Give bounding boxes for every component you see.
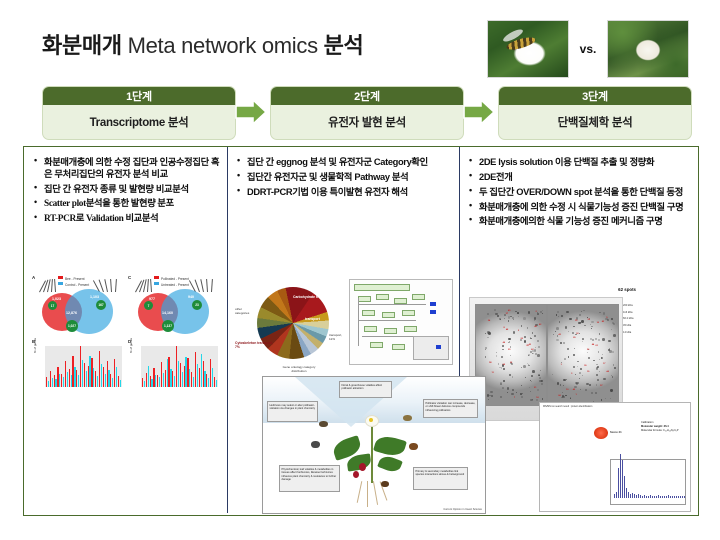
gel-spot-annotation: 11 [492,372,494,374]
gel-spot [532,332,533,333]
gel-spot [576,383,578,385]
gel-spot [563,385,564,386]
gel-spot [500,396,502,398]
eco-insect-bee-right [403,415,412,421]
gel-spot [560,384,561,385]
gel-spot [565,326,567,328]
venn-a-small-left: 17 [48,301,57,310]
spectrum-peak [632,493,633,498]
gel-spot-annotation: 7 [514,397,515,399]
spectrum-peak [674,496,675,498]
column-transcriptome: 화분매개충에 의한 수정 집단과 인공수정집단 혹은 무처리집단의 유전자 분석… [24,147,228,513]
spectrum-peak [650,495,651,498]
gel-spot [533,353,534,354]
spectrum-peak [614,494,615,498]
stage-1-step: 1단계 [43,87,235,105]
gel-spot [591,321,594,324]
gel-spot [557,382,559,384]
gel-spot [501,367,503,369]
gel-spot [573,326,575,328]
bar-panel-d: D % of genes [128,339,220,395]
gel-spot [512,389,514,391]
gel-spot [598,351,599,352]
gel-spot [509,374,511,376]
spectrum-peak [620,454,621,498]
page-title-kr-prefix: 화분매개 [42,33,122,58]
gel-spot [530,338,532,340]
venn-a-small-right: 167 [96,300,106,310]
flow-arrow-2-icon [462,97,496,127]
gel-spot-annotation: 45 [508,310,510,312]
bar-d-ylabel: % of genes [129,338,133,353]
gel-spot [535,347,536,348]
pie-callout-left: other categories [235,307,257,315]
gel-spot [494,309,496,311]
spectrum-peak [630,494,631,498]
gel-spot [537,389,539,391]
eco-caption: Current Opinion in Insect Science [443,508,482,511]
gel-spot [613,334,616,337]
plant-leaf [373,433,407,459]
gel-spot [510,316,511,317]
page-title-kr-suffix: 분석 [324,33,364,58]
gel-spot [558,316,559,317]
gel-spot [612,376,614,378]
gel-spot [599,333,600,334]
gel-spot [502,387,504,389]
gel-spot [581,311,582,312]
gel-spot [608,340,610,342]
spectrum-peak [646,496,647,498]
gel-spot-annotation: 24 [558,395,560,397]
gel-spot [502,349,503,350]
gel-spot [515,311,517,313]
spectrum-peak [626,488,627,498]
list-item: 2DE전개 [468,171,690,183]
gel-spot [562,392,563,393]
gel-spot [513,331,516,334]
stage-3-label: 단백질체학 분석 [499,105,691,139]
gel-spot [518,316,519,317]
gel-spot [536,399,538,401]
spectrum-peak [652,496,653,498]
gel-spot-annotation: 42 [573,389,575,391]
venn-a-right-only: 1,103 [90,295,99,299]
gel-spot-annotation: 48 [506,329,508,331]
venn-a-small-bottom: 1,027 [66,320,78,332]
spectrum-peak [684,496,685,498]
gel-image-right: 1016424230194493215329441241961433617573 [547,304,619,406]
gel-spot-annotation: 29 [573,337,575,339]
gel-spot [517,312,519,314]
gel-spot [500,382,501,383]
gel-spot-annotation: 3 [571,373,572,375]
gel-spot [565,395,567,397]
gel-spot [599,312,601,314]
gel-spot [573,366,575,368]
gel-spot-annotation: 36 [587,349,589,351]
gel-spot [611,329,612,330]
gel-spot [520,393,522,395]
gel-spot-annotation: 44 [592,344,594,346]
gel-spot [556,327,559,330]
stage-flow: 1단계 Transcriptome 분석 2단계 유전자 발현 분석 3단계 단… [0,86,720,144]
ms-spot-score: Score 41 [610,430,622,434]
spectrum-peak [662,496,663,498]
gel-spot [567,348,569,350]
pie-slice-label-2: transport [305,317,320,321]
gel-spot [579,314,581,316]
gel-spot [591,328,592,329]
plant-root [367,481,368,507]
eco-insect-herbivore [409,443,418,450]
header-photo-comparison: vs. [487,20,695,78]
gel-spot [528,365,530,367]
figure-venn-and-bars: A Bee - Present Control - Present [30,275,222,395]
gel-spot [508,320,509,321]
gel-spot-annotation: 57 [600,385,602,387]
gel-spot-annotation: 25 [508,349,510,351]
spectrum-peak [680,496,681,498]
bar-d-plot [141,346,218,387]
gel-spot [556,339,558,341]
gel-spot [578,322,581,325]
gel-spot [577,361,579,363]
pie-callout-bottom: Gene ontology category distribution [279,365,319,373]
plant-flower-center [369,418,373,422]
list-item: 화분매개충에 의한 수정 집단과 인공수정집단 혹은 무처리집단의 유전자 분석… [33,156,221,181]
spectrum-peak [634,494,635,498]
gel-spot [552,374,553,375]
gel-spot [488,332,490,334]
gel-spot [487,337,488,338]
spectrum-peak [668,495,669,498]
list-item: 화분매개충에 의한 수정 시 식물기능성 증진 단백질 구명 [468,201,690,213]
gel-spot [602,354,603,355]
gel-spot [500,319,501,320]
gel-spot-annotation: 61 [596,345,598,347]
eco-text-box-3: Pollinator visitation can increase, decr… [423,399,478,418]
panel-label-a: A [32,275,35,280]
venn-c-small-bottom: 1,137 [162,320,174,332]
gel-spot [580,389,581,390]
stage-3-step: 3단계 [499,87,691,105]
pie-callout-cytoskeleton: Cytoskeleton transport, 7% [235,341,275,350]
gel-spot-annotation: 30 [584,365,586,367]
gel-spot [597,379,599,381]
gel-spot [599,371,600,372]
gel-spot [537,340,539,342]
gel-spot [614,367,616,369]
gel-spot-annotation: 8 [504,327,505,329]
gel-spot [591,392,593,394]
spectrum-peak [682,496,683,498]
venn-c-right-only: 940 [188,295,194,299]
spectrum-peak [670,496,671,498]
gel-spot [595,338,598,341]
gel-spot [583,310,585,312]
gel-spot [596,384,598,386]
stage-box-2[interactable]: 2단계 유전자 발현 분석 [270,86,464,140]
spectrum-peak [642,496,643,498]
gel-spot-annotation: 62 [531,349,533,351]
gel-spot-annotation: 2 [518,330,519,332]
eco-insect-soil [381,481,389,487]
gel-spot [582,338,584,340]
spectrum-peak [622,460,623,498]
spectrum-peak [644,495,645,498]
venn-a-center: 12,876 [66,311,77,315]
spectrum-peak [676,496,677,498]
vs-label: vs. [575,42,601,56]
gel-spot [608,349,610,351]
gel-spot [582,341,583,342]
bar-cyan [216,380,217,387]
gel-spot [497,315,499,317]
flow-arrow-1-icon [234,97,268,127]
pathway-highlight-1 [430,302,436,306]
spectrum-peak [636,495,637,498]
gel-spot [553,334,555,336]
gel-spot-annotation: 19 [587,371,589,373]
gel-spot-annotation: 16 [597,322,599,324]
gel-spot-annotation: 17 [603,363,605,365]
eco-text-box-5: Primary & secondary metabolites link spe… [413,467,468,490]
figure-pathway-map [349,279,453,365]
gel-spot [579,333,580,334]
gel-spot-annotation: 1 [561,364,562,366]
gel-spot-annotation: 42 [558,334,560,336]
gel-spot-annotation: 9 [606,317,607,319]
gel-spot-annotation: 1 [575,394,576,396]
spectrum-peak [624,476,625,498]
gel-spot [569,318,571,320]
list-item: 2DE lysis solution 이용 단백질 추출 및 정량화 [468,156,690,168]
gel-spot [587,352,588,353]
gel-spot-annotation: 44 [606,371,608,373]
gel-spot-annotation: 19 [575,320,577,322]
venn-panel-c: C Pollinated - Present Untreated - Prese… [128,275,220,337]
gel-spot [610,389,612,391]
gel-spot [531,375,533,377]
gel-spot [559,321,560,322]
gel-spot [508,338,510,340]
gel-spot [524,336,526,338]
gel-spot-annotation: 58 [489,362,491,364]
gel-spot-annotation: 62 [539,324,541,326]
page-title-en: Meta network omics [122,33,324,58]
gel-spot [500,383,502,385]
plant-berry [359,463,366,471]
gel-spot-annotation: 24 [488,320,490,322]
gel-spot [595,392,597,394]
bee-on-flower-photo [487,20,569,78]
list-item: Scatter plot분석을 통한 발현량 분포 [33,198,221,210]
spectrum-peak [656,496,657,498]
gel-spot-annotation: 46 [503,342,505,344]
content-frame: 화분매개충에 의한 수정 집단과 인공수정집단 혹은 무처리집단의 유전자 분석… [23,146,699,516]
gel-spot [523,317,526,320]
ms-spectrum-plot [610,459,686,505]
gel-spot [592,339,594,341]
venn-c-legend: Pollinated - Present Untreated - Present [154,276,189,288]
list-item: 집단 간 eggnog 분석 및 유전자군 Category확인 [236,156,453,168]
gel-spot [534,335,536,337]
gel-spot [532,399,533,400]
gel-spot [581,320,584,323]
plant-leaf [377,453,403,474]
gel-spot [539,375,540,376]
gel-spot-annotation: 10 [566,389,568,391]
gel-spot [601,357,603,359]
stage-box-1[interactable]: 1단계 Transcriptome 분석 [42,86,236,140]
gel-spot [538,346,540,348]
spectrum-peak [664,496,665,498]
gel-spot [596,367,599,370]
venn-panel-a: A Bee - Present Control - Present [32,275,124,337]
gel-spot [504,318,505,319]
ms-spot-marker [594,427,608,439]
gel-spot-annotation: 40 [534,326,536,328]
spectrum-peak [638,494,639,498]
gel-spot [496,352,497,353]
gel-spot [560,342,562,344]
gel-spot-annotation: 20 [521,338,523,340]
pie-callout-right: transport, 11% [329,333,347,341]
gel-spot [507,392,508,393]
gel-spot [507,387,509,389]
gel-spot [603,312,605,314]
gel-spot [496,355,498,357]
figure-go-category-pie: Carbohydrate transport transport Cytoske… [235,277,347,375]
stage-2-label: 유전자 발현 분석 [271,105,463,139]
gel-spot [495,313,497,315]
bullet-list-proteomics: 2DE lysis solution 이용 단백질 추출 및 정량화 2DE전개… [459,147,696,228]
gel-spot [603,378,605,380]
gel-spot [589,384,592,387]
stage-2-step: 2단계 [271,87,463,105]
gel-spot [580,368,582,370]
gel-spot [605,398,606,399]
plant-root [373,481,378,505]
spectrum-peak [618,468,619,498]
gel-title: 62 spots [618,287,636,292]
gel-spot-annotation: 2 [536,311,537,313]
gel-spot [523,365,526,368]
gel-spot [579,372,581,374]
gel-spot [513,319,514,320]
gel-spot [540,370,541,371]
gel-spot [525,377,526,378]
figure-ms-identification: MS/MS ion search result : protein identi… [539,402,691,512]
gel-spot [612,351,614,353]
spectrum-peak [616,492,617,498]
gel-spot [503,380,505,382]
gel-spot [532,370,535,373]
gel-spot [599,359,600,360]
venn-a-legend: Bee - Present Control - Present [58,276,89,288]
gel-spot [531,381,532,382]
gel-spot [491,395,494,398]
pathway-legend-panel [413,336,449,360]
spectrum-peak [654,496,655,498]
gel-spot [575,374,576,375]
column-proteomics: 2DE lysis solution 이용 단백질 추출 및 정량화 2DE전개… [459,147,696,513]
gel-spot [534,349,536,351]
list-item: 집단간 유전자군 및 생물학적 Pathway 분석 [236,171,453,183]
gel-spot [574,348,575,349]
gel-spot [534,320,535,321]
gel-spot [498,363,500,365]
spectrum-peak [648,496,649,498]
spectrum-peak [628,492,629,498]
gel-spot-annotation: 43 [602,321,604,323]
gel-spot [563,342,565,344]
gel-spot [563,379,566,382]
gel-y-axis-labels: 200 kDa 116 kDa 66.2 kDa 45 kDa 14 kDa [623,303,633,337]
gel-spot [611,318,613,320]
bar-b-plot [45,346,122,387]
gel-spot [585,389,587,391]
gel-spot [566,311,568,313]
gel-spot [602,338,605,341]
gel-spot-annotation: 25 [526,345,528,347]
gel-spot [510,355,511,356]
spectrum-peak [678,496,679,498]
gel-spot [485,333,487,335]
bar-panel-b: B % of genes [32,339,124,395]
pathway-title-bar [354,284,410,291]
spectrum-peak [658,495,659,498]
list-item: 두 집단간 OVER/DOWN spot 분석을 통한 단백질 동정 [468,186,690,198]
gel-spot [596,374,598,376]
gel-spot [516,392,518,394]
gel-spot [587,317,588,318]
eco-text-box-4: Phytochemical, leaf volatiles & metaboli… [279,465,340,492]
gel-spot [555,331,556,332]
venn-c-small-right: 23 [192,300,202,310]
gel-spot [593,360,595,362]
gel-spot [502,345,504,347]
gel-spot [577,366,578,367]
gel-spot [529,387,530,388]
pathway-highlight-2 [430,310,436,314]
gel-spot [539,377,541,379]
page-title: 화분매개 Meta network omics 분석 [42,28,364,60]
spectrum-peak [640,495,641,498]
plant-stem [371,421,373,483]
spectrum-peak [672,496,673,498]
gel-spot [537,354,540,357]
gel-spot [487,313,489,315]
stage-box-3[interactable]: 3단계 단백질체학 분석 [498,86,692,140]
gel-spot-annotation: 59 [503,364,505,366]
gel-spot [584,325,586,327]
pie-slice-label-1: Carbohydrate transport [293,295,331,299]
gel-spot [485,356,486,357]
plant-berry [353,471,359,478]
gel-spot [528,311,530,313]
gel-spot [590,324,591,325]
venn-c-center: 14,160 [162,311,173,315]
gel-spot [588,357,590,359]
gel-spot-annotation: 16 [536,397,538,399]
gel-spot [557,311,559,313]
gel-spot [568,356,570,358]
list-item: DDRT-PCR기법 이용 특이발현 유전자 해석 [236,186,453,198]
list-item: RT-PCR로 Validation 비교분석 [33,213,221,225]
gel-spot [561,315,563,317]
